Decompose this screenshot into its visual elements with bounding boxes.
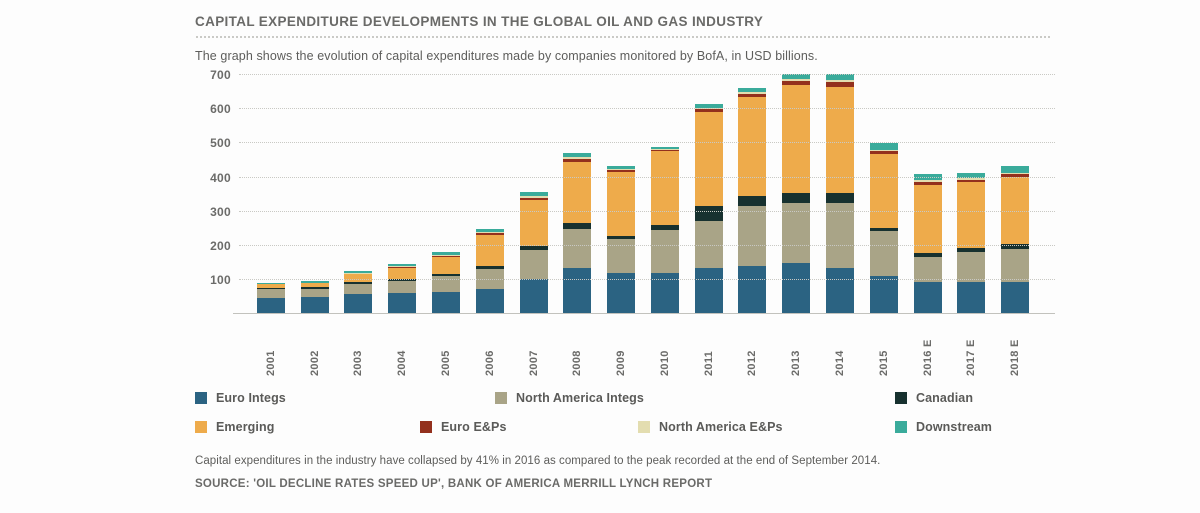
bar-column	[424, 74, 468, 313]
legend-item-canadian[interactable]: Canadian	[895, 391, 973, 405]
stacked-bar	[1001, 166, 1029, 313]
x-label-cell: 2003	[337, 320, 381, 376]
bar-segment	[344, 284, 372, 294]
y-axis-tick: 400	[210, 171, 231, 185]
x-label-cell: 2014	[818, 320, 862, 376]
x-label-cell: 2018 E	[993, 320, 1037, 376]
x-label-cell: 2012	[731, 320, 775, 376]
stacked-bar	[476, 229, 504, 313]
legend-swatch-north-america-eps	[638, 421, 650, 433]
bar-segment	[957, 252, 985, 282]
chart-source: SOURCE: 'OIL DECLINE RATES SPEED UP', BA…	[195, 478, 1055, 490]
x-axis-tick: 2012	[746, 320, 758, 376]
bar-segment	[520, 250, 548, 279]
bar-column	[599, 74, 643, 313]
chart-area: 100200300400500600700 200120022003200420…	[195, 74, 1055, 379]
x-label-cell: 2002	[293, 320, 337, 376]
x-axis-tick: 2008	[571, 320, 583, 376]
x-label-cell: 2006	[468, 320, 512, 376]
legend-label: Emerging	[216, 420, 274, 434]
bar-segment	[432, 292, 460, 313]
stacked-bar	[957, 173, 985, 314]
legend-swatch-euro-integs	[195, 392, 207, 404]
x-axis-tick: 2015	[878, 320, 890, 376]
legend-item-emerging[interactable]: Emerging	[195, 420, 274, 434]
bar-column	[249, 74, 293, 313]
x-axis-labels: 2001200220032004200520062007200820092010…	[239, 320, 1055, 376]
y-axis-tick: 600	[210, 102, 231, 116]
x-axis-tick: 2016 E	[922, 320, 934, 376]
x-label-cell: 2010	[643, 320, 687, 376]
y-axis-tick: 700	[210, 68, 231, 82]
legend-swatch-emerging	[195, 421, 207, 433]
bar-segment	[476, 235, 504, 267]
legend-swatch-north-america-integs	[495, 392, 507, 404]
bar-segment	[870, 276, 898, 314]
gridline: 200	[239, 245, 1055, 246]
bar-segment	[695, 268, 723, 313]
x-axis-tick: 2001	[265, 320, 277, 376]
legend-label: North America E&Ps	[659, 420, 783, 434]
x-label-cell: 2016 E	[906, 320, 950, 376]
bar-segment	[957, 282, 985, 313]
x-axis-tick: 2017 E	[965, 320, 977, 376]
legend-row: Euro IntegsNorth America IntegsCanadian	[195, 383, 1051, 412]
bar-segment	[1001, 249, 1029, 283]
bar-column	[512, 74, 556, 313]
gridline: 300	[239, 211, 1055, 212]
legend-swatch-downstream	[895, 421, 907, 433]
bar-segment	[914, 185, 942, 254]
x-axis-tick: 2002	[309, 320, 321, 376]
bar-column	[337, 74, 381, 313]
legend-row: EmergingEuro E&PsNorth America E&PsDowns…	[195, 412, 1051, 441]
bar-column	[950, 74, 994, 313]
bar-segment	[388, 281, 416, 293]
y-axis-tick: 100	[210, 273, 231, 287]
x-label-cell: 2001	[249, 320, 293, 376]
bar-segment	[782, 263, 810, 314]
bar-segment	[607, 172, 635, 236]
bar-segment	[563, 229, 591, 268]
bar-segment	[826, 268, 854, 313]
bar-segment	[257, 289, 285, 298]
gridline: 700	[239, 74, 1055, 75]
x-axis-line	[233, 313, 1055, 314]
gridline: 500	[239, 142, 1055, 143]
x-label-cell: 2013	[774, 320, 818, 376]
bar-segment	[301, 289, 329, 298]
x-label-cell: 2007	[512, 320, 556, 376]
x-label-cell: 2008	[555, 320, 599, 376]
bar-column	[555, 74, 599, 313]
bar-segment	[257, 298, 285, 313]
stacked-bar	[301, 281, 329, 313]
bar-segment	[914, 282, 942, 313]
legend-label: North America Integs	[516, 391, 644, 405]
chart-subtitle: The graph shows the evolution of capital…	[195, 49, 1055, 63]
bar-column	[818, 74, 862, 313]
stacked-bar	[607, 166, 635, 313]
bar-segment	[563, 268, 591, 313]
page-title: CAPITAL EXPENDITURE DEVELOPMENTS IN THE …	[195, 14, 1055, 30]
bar-segment	[695, 112, 723, 206]
legend-label: Euro E&Ps	[441, 420, 507, 434]
bar-segment	[782, 203, 810, 262]
stacked-bar	[914, 174, 942, 313]
bar-segment	[738, 266, 766, 313]
stacked-bar	[257, 283, 285, 314]
chart-page: CAPITAL EXPENDITURE DEVELOPMENTS IN THE …	[0, 0, 1200, 513]
bar-segment	[1001, 282, 1029, 313]
bar-segment	[870, 143, 898, 150]
gridline: 100	[239, 279, 1055, 280]
legend-swatch-euro-eps	[420, 421, 432, 433]
x-axis-tick: 2013	[790, 320, 802, 376]
gridline: 600	[239, 108, 1055, 109]
bar-column	[468, 74, 512, 313]
legend-item-euro-integs[interactable]: Euro Integs	[195, 391, 286, 405]
x-label-cell: 2004	[380, 320, 424, 376]
bar-column	[862, 74, 906, 313]
bar-segment	[344, 294, 372, 313]
stacked-bar	[388, 264, 416, 313]
legend-label: Euro Integs	[216, 391, 286, 405]
bar-segment	[870, 154, 898, 227]
bar-segment	[388, 268, 416, 279]
bar-column	[774, 74, 818, 313]
stacked-bar	[695, 104, 723, 313]
x-axis-tick: 2014	[834, 320, 846, 376]
bar-column	[293, 74, 337, 313]
x-axis-tick: 2009	[615, 320, 627, 376]
bar-segment	[782, 193, 810, 204]
legend-swatch-canadian	[895, 392, 907, 404]
bar-group	[239, 74, 1055, 313]
chart-container: CAPITAL EXPENDITURE DEVELOPMENTS IN THE …	[195, 14, 1055, 490]
bar-segment	[520, 200, 548, 246]
x-label-cell: 2009	[599, 320, 643, 376]
stacked-bar	[782, 74, 810, 313]
plot-region: 100200300400500600700	[239, 74, 1055, 314]
x-axis-tick: 2003	[352, 320, 364, 376]
bar-column	[731, 74, 775, 313]
legend-label: Downstream	[916, 420, 992, 434]
y-axis-tick: 200	[210, 239, 231, 253]
bar-segment	[388, 293, 416, 313]
bar-segment	[738, 196, 766, 206]
x-label-cell: 2011	[687, 320, 731, 376]
bar-segment	[520, 279, 548, 313]
chart-legend: Euro IntegsNorth America IntegsCanadianE…	[195, 383, 1051, 441]
bar-segment	[957, 182, 985, 248]
legend-item-north-america-eps[interactable]: North America E&Ps	[638, 420, 783, 434]
bar-segment	[651, 151, 679, 224]
bar-segment	[870, 231, 898, 276]
bar-segment	[563, 162, 591, 223]
x-axis-tick: 2010	[659, 320, 671, 376]
stacked-bar	[651, 147, 679, 313]
bar-segment	[826, 203, 854, 268]
bar-segment	[476, 289, 504, 314]
bar-segment	[695, 206, 723, 221]
stacked-bar	[432, 252, 460, 313]
bar-column	[993, 74, 1037, 313]
stacked-bar	[826, 74, 854, 313]
stacked-bar	[870, 143, 898, 314]
stacked-bar	[344, 271, 372, 313]
bar-column	[687, 74, 731, 313]
x-axis-tick: 2007	[528, 320, 540, 376]
bar-segment	[826, 193, 854, 203]
legend-item-euro-eps[interactable]: Euro E&Ps	[420, 420, 507, 434]
x-axis-tick: 2018 E	[1009, 320, 1021, 376]
y-axis-tick: 500	[210, 136, 231, 150]
x-axis-tick: 2004	[396, 320, 408, 376]
title-divider	[195, 36, 1051, 38]
x-label-cell: 2017 E	[950, 320, 994, 376]
bar-segment	[301, 297, 329, 313]
chart-note: Capital expenditures in the industry hav…	[195, 455, 1055, 467]
x-axis-tick: 2006	[484, 320, 496, 376]
bar-segment	[738, 206, 766, 266]
bar-segment	[432, 257, 460, 274]
bar-segment	[651, 230, 679, 273]
legend-item-downstream[interactable]: Downstream	[895, 420, 992, 434]
bar-segment	[738, 97, 766, 196]
y-axis-tick: 300	[210, 205, 231, 219]
bar-column	[380, 74, 424, 313]
x-axis-tick: 2011	[703, 320, 715, 376]
bar-column	[643, 74, 687, 313]
x-axis-tick: 2005	[440, 320, 452, 376]
bar-column	[906, 74, 950, 313]
x-label-cell: 2005	[424, 320, 468, 376]
x-label-cell: 2015	[862, 320, 906, 376]
legend-label: Canadian	[916, 391, 973, 405]
legend-item-north-america-integs[interactable]: North America Integs	[495, 391, 644, 405]
gridline: 400	[239, 177, 1055, 178]
